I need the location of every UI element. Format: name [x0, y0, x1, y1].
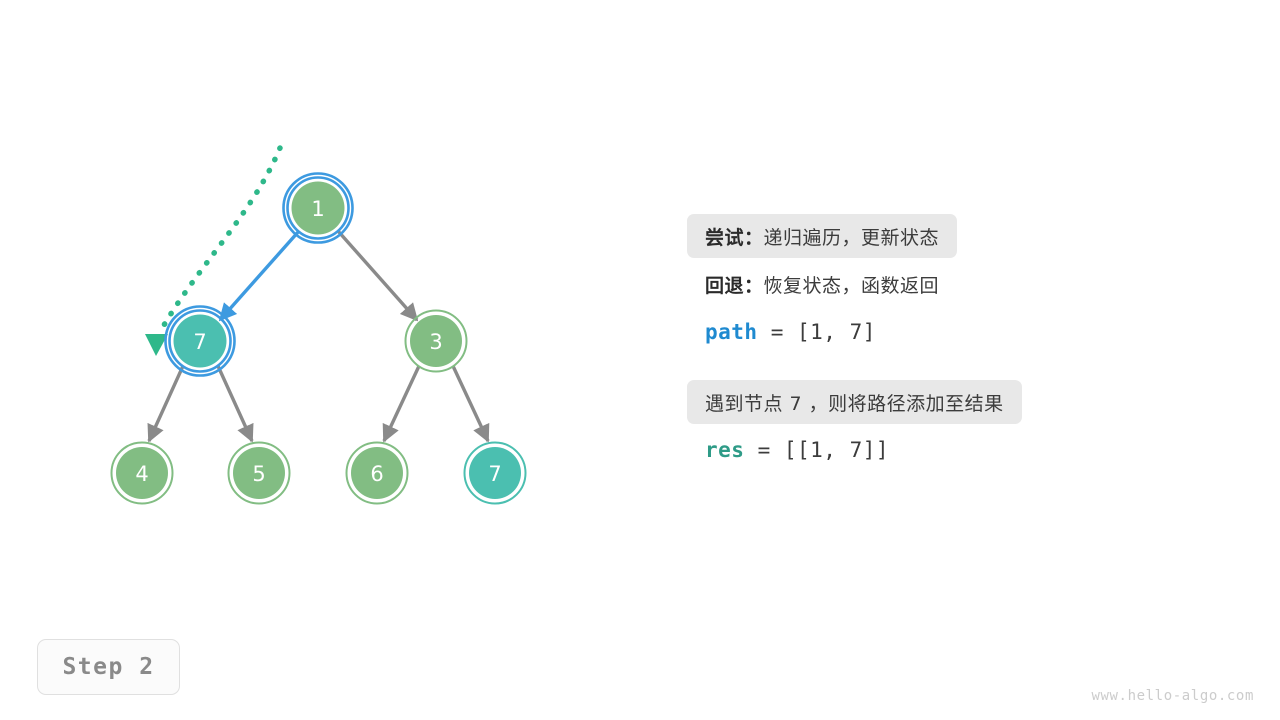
node-label: 7	[193, 330, 206, 354]
res-line: res = [[1, 7]]	[687, 428, 1247, 472]
tree-node-6[interactable]: 6	[347, 443, 408, 504]
res-value: = [[1, 7]]	[744, 438, 889, 462]
watermark: www.hello-algo.com	[1091, 688, 1254, 704]
found-highlight-box: 遇到节点 7 ，则将路径添加至结果	[687, 380, 1022, 424]
edge-3-to-6	[384, 366, 419, 441]
tree-node-1[interactable]: 1	[284, 174, 353, 243]
backtrack-line: 回退：恢复状态，函数返回	[687, 262, 1247, 306]
tree-node-7-left[interactable]: 7	[166, 307, 235, 376]
try-highlight-box: 尝试：递归遍历，更新状态	[687, 214, 957, 258]
edge-7-to-5	[218, 366, 252, 441]
path-line: path = [1, 7]	[687, 310, 1247, 354]
path-code: path = [1, 7]	[705, 320, 876, 344]
backtrack-prefix: 回退：	[705, 275, 764, 297]
try-text-wrapper: 尝试：递归遍历，更新状态	[705, 223, 939, 250]
tree-nodes: 1 7 3 4 5 6	[112, 174, 526, 504]
recursion-trace-curve	[160, 148, 280, 332]
annotation-panel: 尝试：递归遍历，更新状态 回退：恢复状态，函数返回 path = [1, 7] …	[687, 214, 1247, 476]
panel-spacer	[687, 358, 1247, 380]
res-code: res = [[1, 7]]	[705, 438, 889, 462]
node-label: 5	[252, 462, 265, 486]
node-label: 4	[135, 462, 148, 486]
backtrack-text-box: 回退：恢复状态，函数返回	[687, 262, 957, 306]
try-prefix: 尝试：	[705, 227, 764, 249]
path-variable-name: path	[705, 320, 758, 344]
try-line: 尝试：递归遍历，更新状态	[687, 214, 1247, 258]
path-value: = [1, 7]	[758, 320, 876, 344]
step-label: Step 2	[62, 654, 154, 680]
node-label: 1	[311, 197, 324, 221]
backtrack-text-wrapper: 回退：恢复状态，函数返回	[705, 271, 939, 298]
edge-7-to-4	[149, 366, 183, 441]
tree-node-5[interactable]: 5	[229, 443, 290, 504]
tree-node-3[interactable]: 3	[406, 311, 467, 372]
res-variable-name: res	[705, 438, 744, 462]
tree-node-4[interactable]: 4	[112, 443, 173, 504]
step-badge: Step 2	[37, 639, 180, 695]
path-text-box: path = [1, 7]	[687, 310, 894, 354]
try-body: 递归遍历，更新状态	[764, 227, 940, 249]
res-text-box: res = [[1, 7]]	[687, 428, 907, 472]
backtrack-body: 恢复状态，函数返回	[764, 275, 940, 297]
edge-3-to-7	[453, 366, 488, 441]
node-label: 7	[488, 462, 501, 486]
node-label: 3	[429, 330, 442, 354]
edge-1-to-3	[338, 231, 417, 320]
node-label: 6	[370, 462, 383, 486]
found-line: 遇到节点 7 ，则将路径添加至结果	[687, 380, 1247, 424]
edge-1-to-7	[220, 231, 299, 320]
found-text: 遇到节点 7 ，则将路径添加至结果	[705, 389, 1004, 416]
tree-node-7-leaf[interactable]: 7	[465, 443, 526, 504]
